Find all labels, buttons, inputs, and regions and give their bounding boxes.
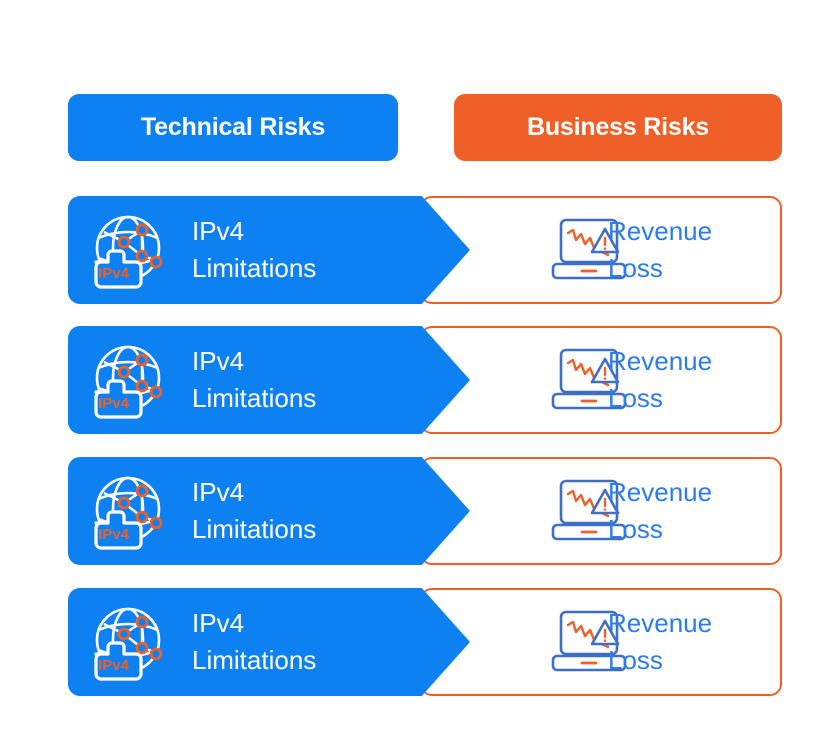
technical-risk-chevron[interactable]: IPv4 IPv4 Limitations (68, 196, 470, 304)
business-risk-label: Revenue Loss (608, 474, 712, 548)
table-row[interactable]: IPv4 IPv4 Limitations Revenue Loss (68, 326, 782, 434)
globe-network-ipv4-icon: IPv4 (90, 604, 166, 680)
technical-risk-label: IPv4 Limitations (192, 343, 316, 417)
table-row[interactable]: IPv4 IPv4 Limitations Revenue Loss (68, 588, 782, 696)
technical-risk-chevron[interactable]: IPv4 IPv4 Limitations (68, 326, 470, 434)
svg-text:IPv4: IPv4 (98, 265, 130, 282)
business-risk-label: Revenue Loss (608, 343, 712, 417)
globe-network-ipv4-icon: IPv4 (90, 473, 166, 549)
business-risk-label: Revenue Loss (608, 213, 712, 287)
risk-comparison-diagram: Technical Risks Business Risks (0, 0, 832, 734)
svg-text:IPv4: IPv4 (98, 526, 130, 543)
globe-network-ipv4-icon: IPv4 (90, 212, 166, 288)
table-row[interactable]: IPv4 IPv4 Limitations Revenue Loss (68, 196, 782, 304)
table-row[interactable]: IPv4 IPv4 Limitations Revenue Loss (68, 457, 782, 565)
svg-text:IPv4: IPv4 (98, 657, 130, 674)
risk-rows: IPv4 IPv4 Limitations Revenue Loss (0, 0, 832, 734)
technical-risk-chevron[interactable]: IPv4 IPv4 Limitations (68, 457, 470, 565)
technical-risk-chevron[interactable]: IPv4 IPv4 Limitations (68, 588, 470, 696)
globe-network-ipv4-icon: IPv4 (90, 342, 166, 418)
svg-text:IPv4: IPv4 (98, 395, 130, 412)
technical-risk-label: IPv4 Limitations (192, 474, 316, 548)
technical-risk-label: IPv4 Limitations (192, 213, 316, 287)
business-risk-label: Revenue Loss (608, 605, 712, 679)
technical-risk-label: IPv4 Limitations (192, 605, 316, 679)
